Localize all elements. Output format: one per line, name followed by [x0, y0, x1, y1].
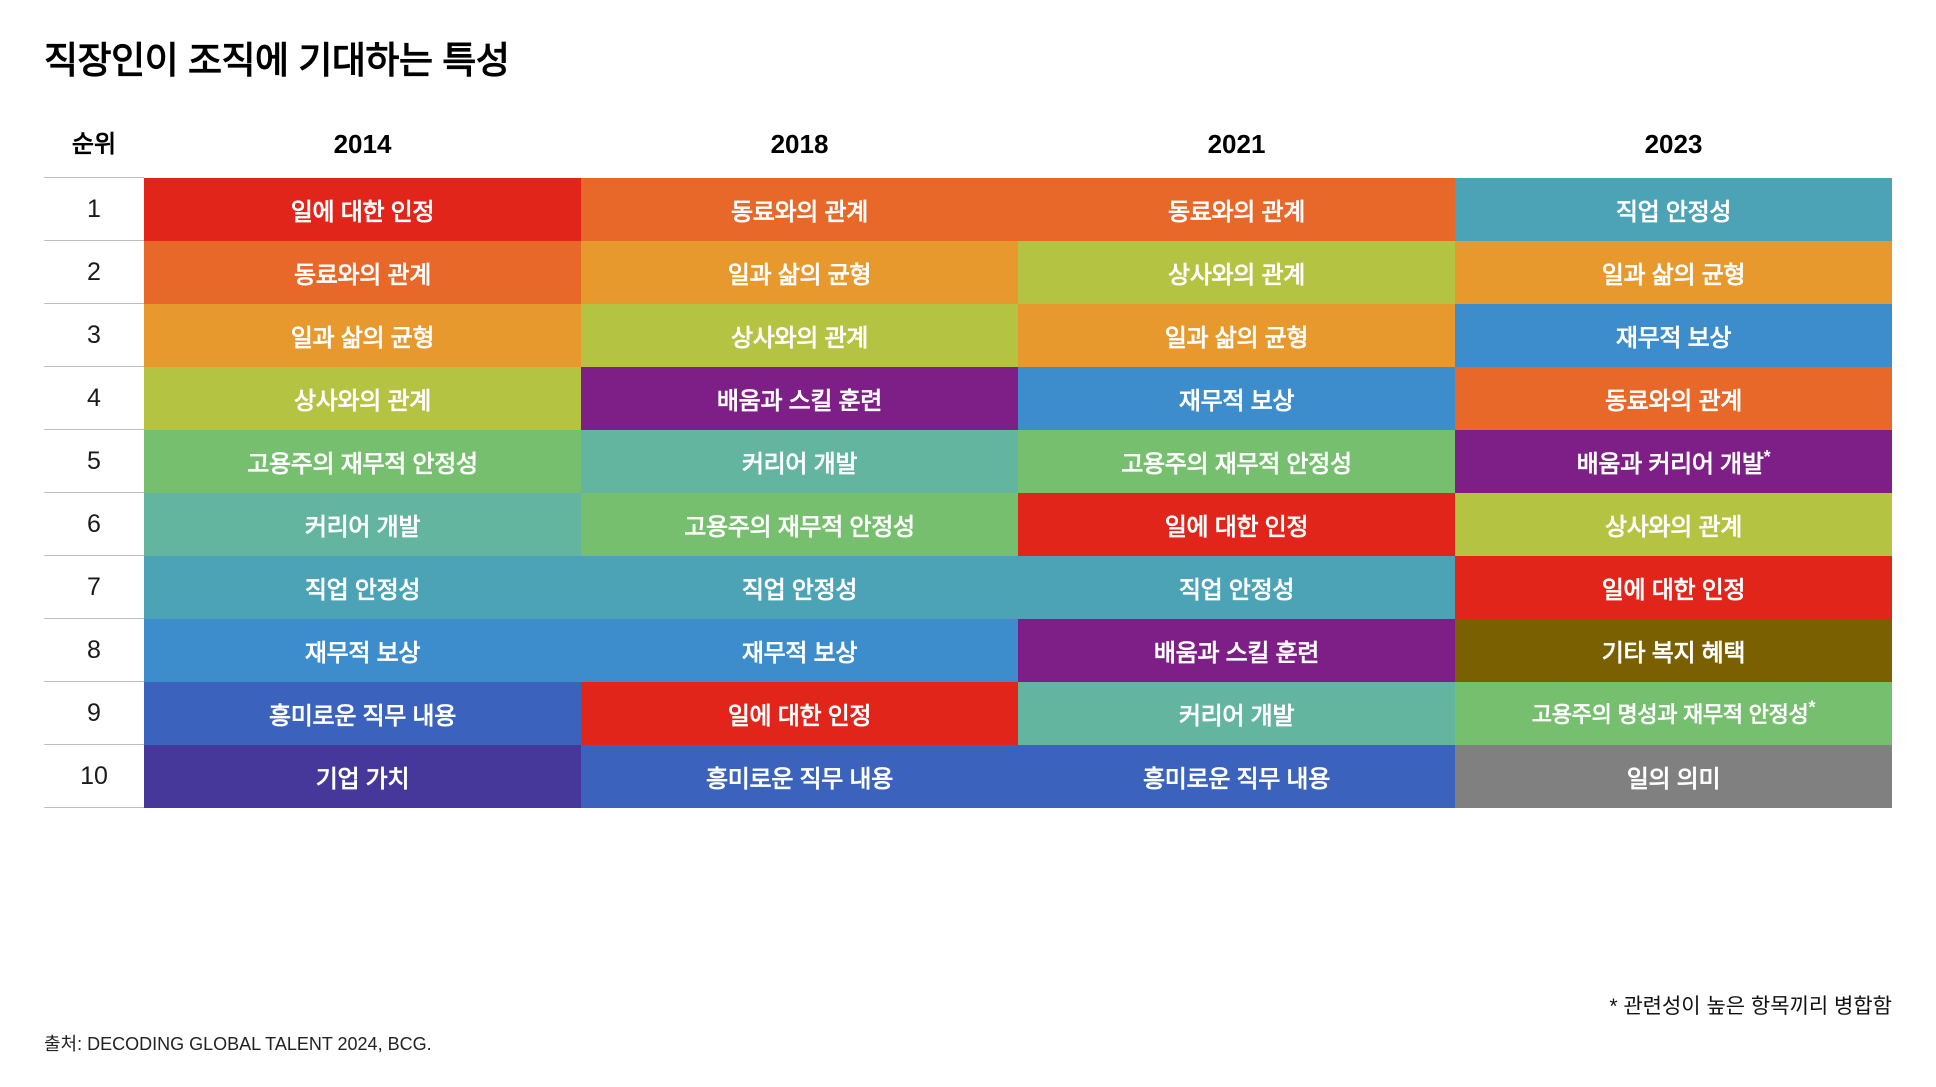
rank-cell: 3: [44, 304, 144, 367]
attribute-cell-2014-rank-10: 기업 가치: [144, 745, 581, 808]
attribute-cell-2014-rank-4: 상사와의 관계: [144, 367, 581, 430]
attribute-cell-2014-rank-8: 재무적 보상: [144, 619, 581, 682]
column-header-2018: 2018: [581, 124, 1018, 178]
attribute-cell-2018-rank-8: 재무적 보상: [581, 619, 1018, 682]
column-header-2014: 2014: [144, 124, 581, 178]
table-row: 9흥미로운 직무 내용일에 대한 인정커리어 개발고용주의 명성과 재무적 안정…: [44, 682, 1892, 745]
attribute-cell-2023-rank-8: 기타 복지 혜택: [1455, 619, 1892, 682]
attribute-cell-2014-rank-1: 일에 대한 인정: [144, 178, 581, 241]
attribute-cell-2021-rank-1: 동료와의 관계: [1018, 178, 1455, 241]
attribute-cell-2014-rank-7: 직업 안정성: [144, 556, 581, 619]
attribute-cell-2021-rank-6: 일에 대한 인정: [1018, 493, 1455, 556]
table-row: 7직업 안정성직업 안정성직업 안정성일에 대한 인정: [44, 556, 1892, 619]
merged-items-asterisk: *: [1764, 447, 1771, 467]
attribute-cell-2014-rank-9: 흥미로운 직무 내용: [144, 682, 581, 745]
attribute-cell-2014-rank-3: 일과 삶의 균형: [144, 304, 581, 367]
table-row: 3일과 삶의 균형상사와의 관계일과 삶의 균형재무적 보상: [44, 304, 1892, 367]
table-body: 1일에 대한 인정동료와의 관계동료와의 관계직업 안정성2동료와의 관계일과 …: [44, 178, 1892, 808]
attribute-cell-2023-rank-7: 일에 대한 인정: [1455, 556, 1892, 619]
attribute-cell-2023-rank-4: 동료와의 관계: [1455, 367, 1892, 430]
column-header-2023: 2023: [1455, 124, 1892, 178]
rank-cell: 7: [44, 556, 144, 619]
attribute-cell-2018-rank-1: 동료와의 관계: [581, 178, 1018, 241]
attribute-cell-2018-rank-3: 상사와의 관계: [581, 304, 1018, 367]
attribute-cell-2018-rank-10: 흥미로운 직무 내용: [581, 745, 1018, 808]
table-row: 10기업 가치흥미로운 직무 내용흥미로운 직무 내용일의 의미: [44, 745, 1892, 808]
column-header-rank: 순위: [44, 124, 144, 178]
attribute-cell-2021-rank-2: 상사와의 관계: [1018, 241, 1455, 304]
attribute-cell-2014-rank-6: 커리어 개발: [144, 493, 581, 556]
attribute-cell-2018-rank-9: 일에 대한 인정: [581, 682, 1018, 745]
attribute-cell-2021-rank-9: 커리어 개발: [1018, 682, 1455, 745]
ranking-table: 순위 2014 2018 2021 2023 1일에 대한 인정동료와의 관계동…: [44, 124, 1892, 808]
attribute-cell-2018-rank-7: 직업 안정성: [581, 556, 1018, 619]
attribute-cell-2021-rank-7: 직업 안정성: [1018, 556, 1455, 619]
chart-page: 직장인이 조직에 기대하는 특성 순위 2014 2018 2021 2023 …: [0, 0, 1936, 1087]
table-row: 8재무적 보상재무적 보상배움과 스킬 훈련기타 복지 혜택: [44, 619, 1892, 682]
rank-cell: 10: [44, 745, 144, 808]
rank-cell: 5: [44, 430, 144, 493]
attribute-cell-2023-rank-9: 고용주의 명성과 재무적 안정성*: [1455, 682, 1892, 745]
page-title: 직장인이 조직에 기대하는 특성: [44, 30, 509, 84]
table-row: 5고용주의 재무적 안정성커리어 개발고용주의 재무적 안정성배움과 커리어 개…: [44, 430, 1892, 493]
attribute-cell-2023-rank-6: 상사와의 관계: [1455, 493, 1892, 556]
attribute-cell-2014-rank-2: 동료와의 관계: [144, 241, 581, 304]
attribute-cell-2021-rank-8: 배움과 스킬 훈련: [1018, 619, 1455, 682]
table-header: 순위 2014 2018 2021 2023: [44, 124, 1892, 178]
attribute-cell-2018-rank-5: 커리어 개발: [581, 430, 1018, 493]
attribute-cell-2021-rank-4: 재무적 보상: [1018, 367, 1455, 430]
attribute-cell-2021-rank-3: 일과 삶의 균형: [1018, 304, 1455, 367]
attribute-cell-2023-rank-2: 일과 삶의 균형: [1455, 241, 1892, 304]
rank-cell: 6: [44, 493, 144, 556]
source-note: 출처: DECODING GLOBAL TALENT 2024, BCG.: [44, 1030, 432, 1056]
attribute-cell-2018-rank-2: 일과 삶의 균형: [581, 241, 1018, 304]
header-row: 순위 2014 2018 2021 2023: [44, 124, 1892, 178]
rank-cell: 4: [44, 367, 144, 430]
table-row: 4상사와의 관계배움과 스킬 훈련재무적 보상동료와의 관계: [44, 367, 1892, 430]
footnote: * 관련성이 높은 항목끼리 병합함: [1609, 990, 1892, 1020]
rank-cell: 1: [44, 178, 144, 241]
attribute-cell-2018-rank-6: 고용주의 재무적 안정성: [581, 493, 1018, 556]
attribute-cell-2021-rank-10: 흥미로운 직무 내용: [1018, 745, 1455, 808]
merged-items-asterisk: *: [1808, 698, 1815, 718]
attribute-cell-2014-rank-5: 고용주의 재무적 안정성: [144, 430, 581, 493]
attribute-cell-2023-rank-3: 재무적 보상: [1455, 304, 1892, 367]
attribute-cell-2023-rank-5: 배움과 커리어 개발*: [1455, 430, 1892, 493]
attribute-cell-2018-rank-4: 배움과 스킬 훈련: [581, 367, 1018, 430]
table-row: 6커리어 개발고용주의 재무적 안정성일에 대한 인정상사와의 관계: [44, 493, 1892, 556]
table-row: 2동료와의 관계일과 삶의 균형상사와의 관계일과 삶의 균형: [44, 241, 1892, 304]
rank-cell: 8: [44, 619, 144, 682]
attribute-cell-2023-rank-10: 일의 의미: [1455, 745, 1892, 808]
rank-cell: 9: [44, 682, 144, 745]
rank-cell: 2: [44, 241, 144, 304]
attribute-cell-2021-rank-5: 고용주의 재무적 안정성: [1018, 430, 1455, 493]
column-header-2021: 2021: [1018, 124, 1455, 178]
attribute-cell-2023-rank-1: 직업 안정성: [1455, 178, 1892, 241]
table-row: 1일에 대한 인정동료와의 관계동료와의 관계직업 안정성: [44, 178, 1892, 241]
